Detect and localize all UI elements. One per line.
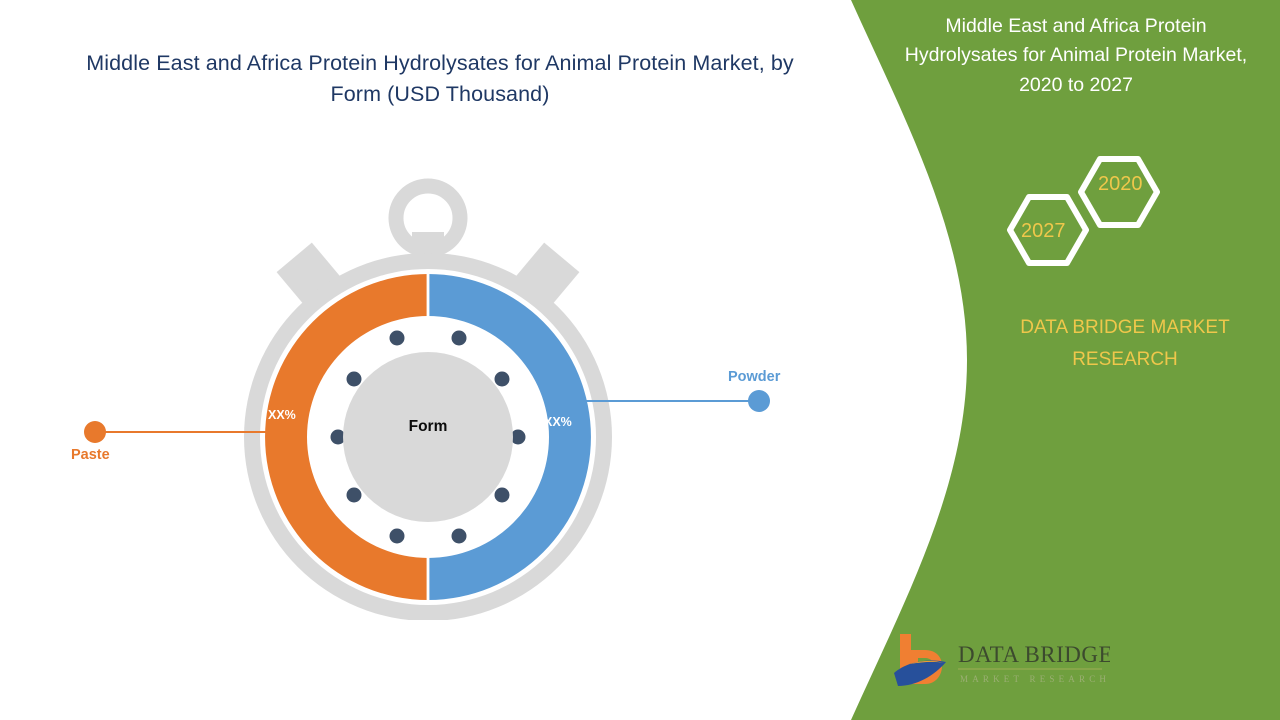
- callout-label-paste: Paste: [71, 447, 110, 463]
- stopwatch-donut-chart: Form: [228, 160, 628, 620]
- panel-heading: Middle East and Africa Protein Hydrolysa…: [900, 12, 1252, 100]
- hexagon-badge-group: [975, 145, 1185, 290]
- callout-dot-powder: [748, 390, 770, 412]
- hexagon-outline-2020: [1081, 159, 1157, 225]
- callout-dot-paste: [84, 421, 106, 443]
- company-logo: DATA BRIDGE MARKET RESEARCH: [880, 628, 1110, 700]
- logo-wordmark: DATA BRIDGE: [958, 642, 1110, 667]
- hexagon-badges-graphic: [975, 145, 1185, 290]
- donut-center-disc: [343, 352, 513, 522]
- callout-line-powder: [574, 400, 754, 402]
- brand-name-line1: DATA BRIDGE MARKET: [975, 312, 1275, 344]
- brand-name: DATA BRIDGE MARKET RESEARCH: [975, 312, 1275, 377]
- hexagon-outline-2027: [1010, 197, 1086, 263]
- callout-label-powder: Powder: [728, 369, 780, 385]
- chart-title: Middle East and Africa Protein Hydrolysa…: [60, 48, 820, 110]
- infographic-canvas: Middle East and Africa Protein Hydrolysa…: [0, 0, 1280, 720]
- brand-name-line2: RESEARCH: [975, 344, 1275, 376]
- data-bridge-logo-graphic: DATA BRIDGE MARKET RESEARCH: [880, 628, 1110, 700]
- chart-panel: Middle East and Africa Protein Hydrolysa…: [0, 0, 860, 720]
- callout-line-paste: [95, 431, 295, 433]
- donut-chart-graphic: [228, 160, 628, 620]
- logo-tagline: MARKET RESEARCH: [960, 674, 1110, 684]
